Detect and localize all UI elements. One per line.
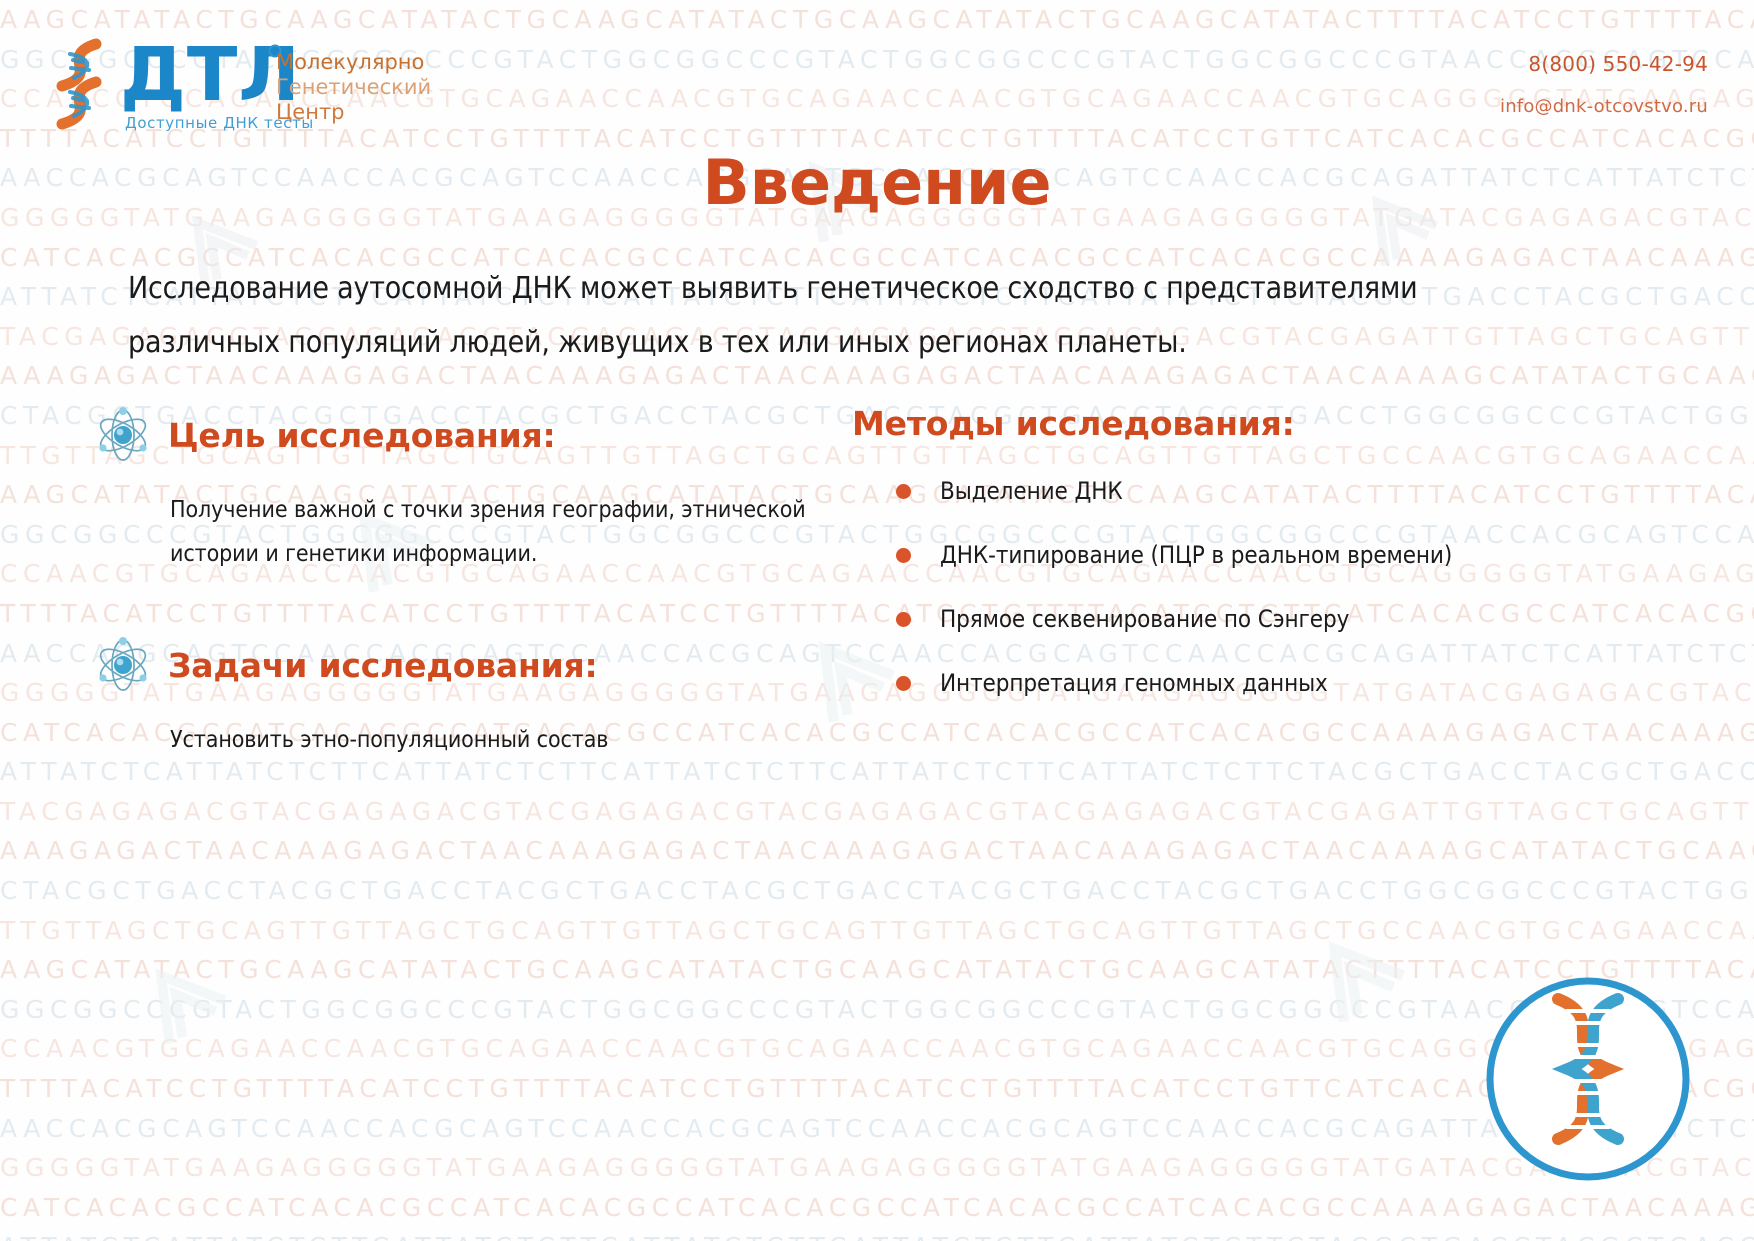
- dna-circle-badge-icon: [1480, 971, 1696, 1187]
- section-goal-body: Получение важной с точки зрения географи…: [170, 488, 852, 576]
- slide-root: AAGCATATACTGCAAGCATATACTGCAAGCATATACTGCA…: [0, 0, 1754, 1241]
- list-item-label: Интерпретация геномных данных: [940, 669, 1328, 697]
- section-goal-title: Цель исследования:: [168, 416, 556, 455]
- contact-email[interactable]: info@dnk-otcovstvo.ru: [1500, 96, 1708, 117]
- brand-descriptor-line-2: Генетический: [276, 75, 431, 100]
- intro-paragraph: Исследование аутосомной ДНК может выявит…: [128, 262, 1548, 370]
- contact-phone[interactable]: 8(800) 550-42-94: [1500, 52, 1708, 76]
- section-tasks-body: Установить этно-популяционный состав: [170, 718, 852, 762]
- section-goal-header: Цель исследования:: [92, 404, 852, 466]
- section-goal: Цель исследования: Получение важной с то…: [92, 404, 852, 576]
- list-item: Интерпретация геномных данных: [896, 669, 1590, 697]
- page-header: ДТЛ Молекулярно Генетический Центр Досту…: [0, 0, 1754, 150]
- dna-helix-icon: [40, 36, 118, 132]
- list-item-label: Прямое секвенирование по Сэнгеру: [940, 605, 1349, 633]
- contact-block: 8(800) 550-42-94 info@dnk-otcovstvo.ru: [1500, 52, 1708, 117]
- atom-icon: [92, 634, 154, 696]
- atom-icon: [92, 404, 154, 466]
- brand-tagline: Доступные ДНК тесты: [125, 114, 314, 132]
- list-item-label: Выделение ДНК: [940, 477, 1123, 505]
- list-item-label: ДНК-типирование (ПЦР в реальном времени): [940, 541, 1452, 569]
- brand-logo[interactable]: ДТЛ Молекулярно Генетический Центр Досту…: [40, 28, 430, 136]
- left-column: Цель исследования: Получение важной с то…: [92, 404, 852, 762]
- section-tasks-title: Задачи исследования:: [168, 646, 597, 685]
- methods-title: Методы исследования:: [852, 404, 1590, 443]
- section-tasks: Задачи исследования: Установить этно-поп…: [92, 634, 852, 762]
- bullet-icon: [896, 676, 911, 691]
- section-tasks-header: Задачи исследования:: [92, 634, 852, 696]
- methods-list: Выделение ДНК ДНК-типирование (ПЦР в реа…: [896, 477, 1590, 697]
- page-title: Введение: [0, 146, 1754, 219]
- list-item: Прямое секвенирование по Сэнгеру: [896, 605, 1590, 633]
- brand-descriptor-line-1: Молекулярно: [276, 50, 431, 75]
- bullet-icon: [896, 484, 911, 499]
- logo-watermark-icon: [110, 930, 250, 1070]
- bullet-icon: [896, 612, 911, 627]
- logo-watermark-icon: [1280, 900, 1430, 1050]
- bullet-icon: [896, 548, 911, 563]
- list-item: Выделение ДНК: [896, 477, 1590, 505]
- right-column: Методы исследования: Выделение ДНК ДНК-т…: [850, 404, 1590, 733]
- list-item: ДНК-типирование (ПЦР в реальном времени): [896, 541, 1590, 569]
